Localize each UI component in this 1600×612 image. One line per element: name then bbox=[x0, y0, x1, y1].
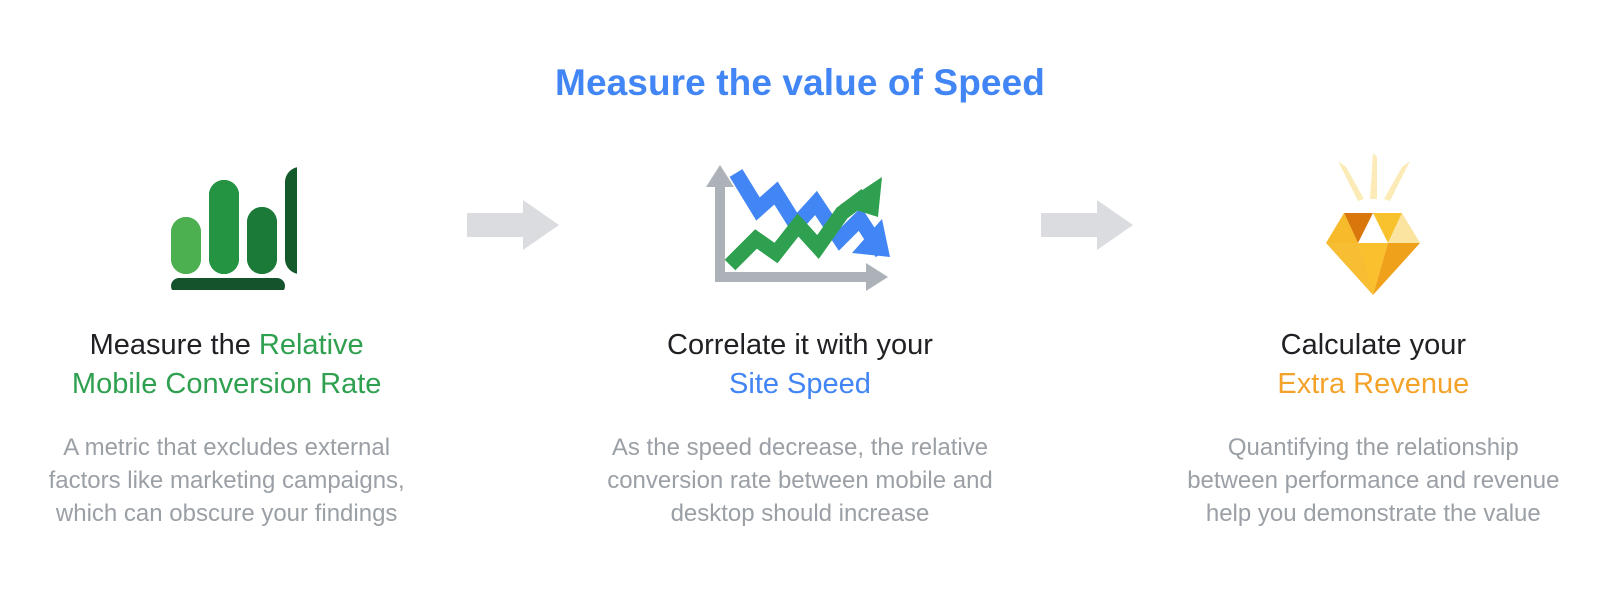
step-1-desc-line-2: factors like marketing campaigns, bbox=[49, 464, 405, 497]
step-1-heading-accent-line2: Mobile Conversion Rate bbox=[72, 368, 381, 400]
arrow-right-icon bbox=[1041, 200, 1133, 250]
step-1-desc-line-1: A metric that excludes external bbox=[49, 431, 405, 464]
step-2-desc-line-1: As the speed decrease, the relative bbox=[607, 431, 993, 464]
step-2-icon-box bbox=[700, 150, 900, 300]
step-3-desc-line-1: Quantifying the relationship bbox=[1187, 431, 1559, 464]
step-1-desc-line-3: which can obscure your findings bbox=[49, 497, 405, 530]
step-3-icon-box bbox=[1298, 150, 1448, 300]
steps-row: Measure the Relative Mobile Conversion R… bbox=[0, 150, 1600, 530]
step-1-heading-plain: Measure the bbox=[90, 329, 259, 361]
step-2-desc-line-2: conversion rate between mobile and bbox=[607, 464, 993, 497]
line-chart-icon bbox=[700, 153, 900, 298]
page-title: Measure the value of Speed bbox=[0, 62, 1600, 104]
step-3-description: Quantifying the relationship between per… bbox=[1187, 431, 1559, 530]
step-3-desc-line-3: help you demonstrate the value bbox=[1187, 497, 1559, 530]
step-1: Measure the Relative Mobile Conversion R… bbox=[0, 150, 453, 530]
step-1-heading-accent: Relative bbox=[259, 329, 364, 361]
step-3-heading: Calculate your Extra Revenue bbox=[1277, 326, 1469, 404]
step-3-desc-line-2: between performance and revenue bbox=[1187, 464, 1559, 497]
bar-chart-icon bbox=[157, 160, 297, 290]
step-1-icon-box bbox=[157, 150, 297, 300]
connector-1 bbox=[453, 150, 573, 300]
step-2: Correlate it with your Site Speed As the… bbox=[573, 150, 1026, 530]
step-2-description: As the speed decrease, the relative conv… bbox=[607, 431, 993, 530]
step-2-heading: Correlate it with your Site Speed bbox=[667, 326, 933, 404]
gem-body bbox=[1326, 213, 1420, 295]
step-3-heading-plain: Calculate your bbox=[1281, 329, 1466, 361]
sparkle-rays bbox=[1338, 153, 1410, 201]
gem-icon bbox=[1298, 151, 1448, 299]
connector-2 bbox=[1027, 150, 1147, 300]
step-2-heading-plain: Correlate it with your bbox=[667, 329, 933, 361]
step-1-description: A metric that excludes external factors … bbox=[49, 431, 405, 530]
step-1-heading: Measure the Relative Mobile Conversion R… bbox=[72, 326, 381, 404]
arrow-right-icon bbox=[467, 200, 559, 250]
step-3: Calculate your Extra Revenue Quantifying… bbox=[1147, 150, 1600, 530]
step-2-heading-accent: Site Speed bbox=[729, 368, 871, 400]
infographic-page: Measure the value of Speed bbox=[0, 0, 1600, 612]
step-2-desc-line-3: desktop should increase bbox=[607, 497, 993, 530]
step-3-heading-accent: Extra Revenue bbox=[1277, 368, 1469, 400]
